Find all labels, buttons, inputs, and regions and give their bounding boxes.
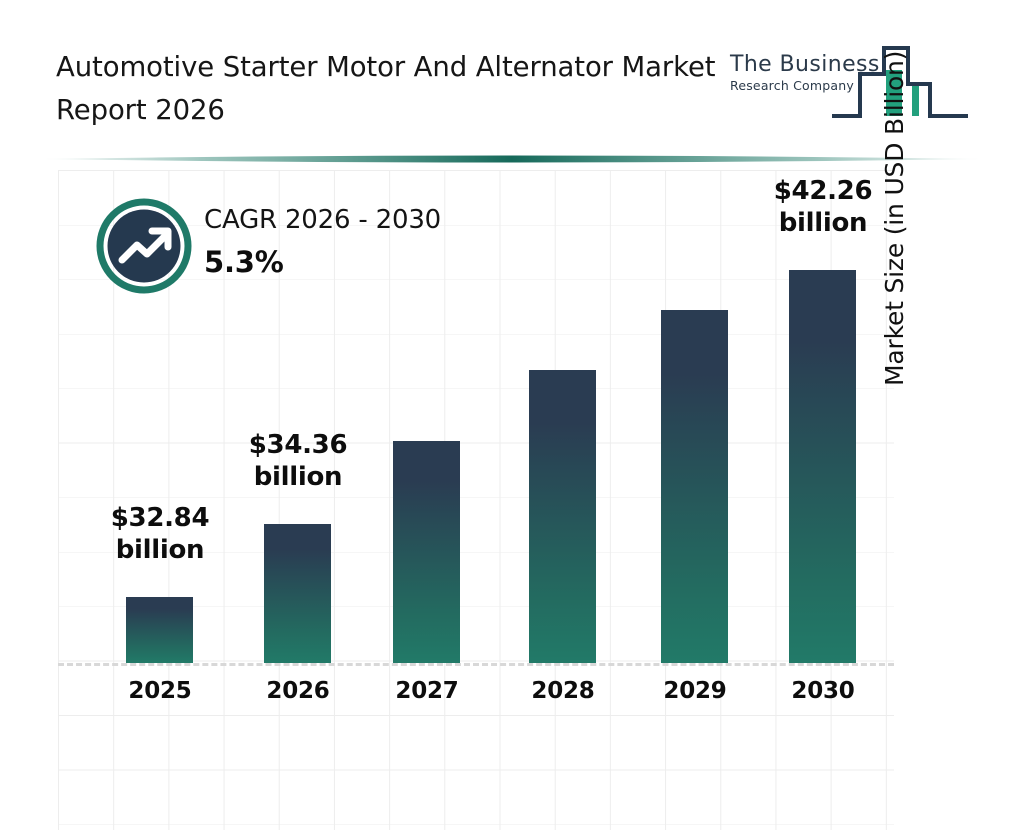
y-axis-label: Market Size (in USD Billion) [880, 46, 909, 386]
xtick-2025: 2025 [94, 678, 226, 704]
bar-2025[interactable] [126, 597, 193, 663]
bar-label-2026: $34.36 billion [232, 429, 364, 493]
bar-label-2030: $42.26 billion [757, 175, 889, 239]
bar-2028[interactable] [529, 370, 596, 663]
bar-label-2026-unit: billion [232, 461, 364, 493]
section-divider [40, 152, 984, 166]
cagr-title: CAGR 2026 - 2030 [204, 203, 441, 237]
cagr-badge: CAGR 2026 - 2030 5.3% [96, 198, 516, 308]
bar-2027[interactable] [393, 441, 460, 663]
bar-label-2025-unit: billion [94, 534, 226, 566]
xtick-2027: 2027 [361, 678, 493, 704]
bar-chart: $32.84 billion $34.36 billion $42.26 bil… [0, 166, 1024, 726]
bar-label-2030-value: $42.26 [757, 175, 889, 207]
xtick-2029: 2029 [629, 678, 761, 704]
page-title: Automotive Starter Motor And Alternator … [56, 46, 736, 132]
header: Automotive Starter Motor And Alternator … [0, 0, 1024, 150]
xtick-2028: 2028 [497, 678, 629, 704]
company-logo: The Business Research Company [722, 36, 972, 131]
trending-up-icon [96, 198, 192, 294]
bar-2029[interactable] [661, 310, 728, 663]
bar-label-2025: $32.84 billion [94, 502, 226, 566]
xtick-2030: 2030 [757, 678, 889, 704]
bar-label-2030-unit: billion [757, 207, 889, 239]
chart-baseline [58, 663, 894, 666]
bar-label-2025-value: $32.84 [94, 502, 226, 534]
bar-2026[interactable] [264, 524, 331, 663]
cagr-value: 5.3% [204, 243, 441, 281]
bar-2030[interactable] [789, 270, 856, 663]
cagr-text-block: CAGR 2026 - 2030 5.3% [204, 203, 441, 281]
xtick-2026: 2026 [232, 678, 364, 704]
chart-plot-area: $32.84 billion $34.36 billion $42.26 bil… [0, 166, 1024, 726]
bar-label-2026-value: $34.36 [232, 429, 364, 461]
